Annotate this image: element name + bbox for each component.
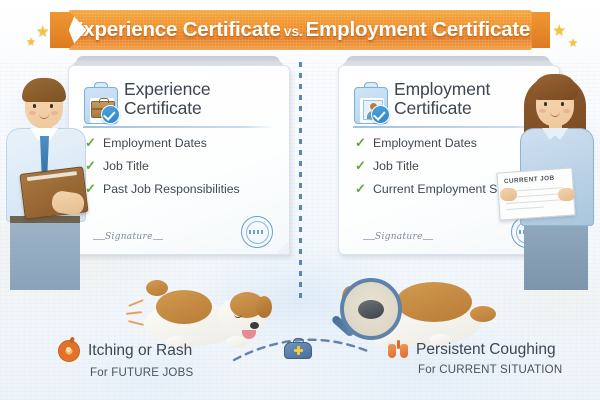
title-part-experience: Experience Certificate <box>70 18 281 41</box>
dog-ear <box>256 296 272 318</box>
woman-with-document-illustration: CURRENT JOB <box>512 62 600 290</box>
scratch-motion-line <box>128 320 144 326</box>
experience-certificate-card[interactable]: Experience Certificate ✓ Employment Date… <box>68 56 288 256</box>
list-item: ✓ Job Title <box>85 159 281 173</box>
card-title: Employment Certificate <box>394 80 490 118</box>
list-item-label: Job Title <box>373 159 419 173</box>
star-icon: ★ <box>553 21 566 39</box>
vet-bag-icon <box>284 338 310 358</box>
title-vs: vs. <box>281 23 306 39</box>
card-title-line2: Certificate <box>394 99 490 118</box>
ribbon-band: Experience Certificatevs.Employment Cert… <box>68 10 532 50</box>
hair <box>22 78 66 102</box>
signature-line: Signature <box>105 232 153 242</box>
card-title-line1: Experience <box>124 80 211 99</box>
eye <box>561 102 564 106</box>
medical-cross-icon <box>294 346 303 355</box>
document-line <box>506 206 544 210</box>
list-item: ✓ Employment Dates <box>85 136 281 150</box>
star-icon: ★ <box>26 35 36 48</box>
eye <box>33 104 36 108</box>
clipboard-id-photo-icon <box>353 82 387 122</box>
list-item-label: Job Title <box>103 159 149 173</box>
cheek <box>51 111 58 115</box>
card-title-line1: Employment <box>394 80 490 99</box>
bottom-label-title: Persistent Coughing <box>416 341 556 359</box>
signature-line: Signature <box>375 232 423 242</box>
bottom-label-title: Itching or Rash <box>88 342 192 360</box>
dog-back-patch <box>396 282 472 322</box>
check-icon: ✓ <box>355 136 366 150</box>
scratch-motion-line <box>128 299 144 307</box>
eye <box>50 104 53 108</box>
check-badge-icon <box>101 105 120 124</box>
cheek <box>29 111 36 115</box>
dog-back-patch <box>156 290 212 324</box>
hand <box>500 188 517 201</box>
mouth <box>550 112 560 117</box>
title-part-employment: Employment Certificate <box>306 18 531 41</box>
check-badge-icon <box>371 105 390 124</box>
lungs-icon <box>388 340 408 359</box>
title-ribbon: ★ ★ ★ ★ Experience Certificatevs.Employm… <box>50 8 550 54</box>
list-item-label: Employment Dates <box>103 136 207 150</box>
eye <box>544 102 547 106</box>
man-with-folder-illustration <box>2 66 88 290</box>
list-item: ✓ Past Job Responsibilities <box>85 182 281 196</box>
scratch-motion-line <box>126 311 142 315</box>
bottom-label-right: Persistent Coughing For CURRENT SITUATIO… <box>388 340 600 376</box>
feature-list: ✓ Employment Dates ✓ Job Title ✓ Past Jo… <box>85 136 281 205</box>
skirt <box>524 222 588 290</box>
bottom-label-subtitle: For FUTURE JOBS <box>90 367 278 379</box>
dog-nose <box>250 322 259 329</box>
check-icon: ✓ <box>355 159 366 173</box>
dog-tail <box>146 280 168 296</box>
trousers <box>10 218 80 290</box>
cheek <box>539 109 546 113</box>
infographic-canvas: ★ ★ ★ ★ Experience Certificatevs.Employm… <box>0 0 600 400</box>
list-item-label: Employment Dates <box>373 136 477 150</box>
page-title: Experience Certificatevs.Employment Cert… <box>70 18 530 42</box>
bottom-label-left: Itching or Rash For FUTURE JOBS <box>58 340 278 379</box>
document-line <box>506 199 564 204</box>
ribbon-left-tail <box>50 12 76 48</box>
star-icon: ★ <box>568 36 578 49</box>
bottom-label-subtitle: For CURRENT SITUATION <box>418 364 600 376</box>
rash-spot-icon <box>58 340 80 362</box>
list-item-label: Past Job Responsibilities <box>103 182 240 196</box>
title-underline <box>83 126 273 128</box>
document-label: CURRENT JOB <box>504 175 555 186</box>
card-title-line2: Certificate <box>124 99 211 118</box>
hair-top <box>532 74 578 100</box>
hand <box>558 188 575 201</box>
bottom-label-row: Persistent Coughing <box>388 340 600 359</box>
star-icon: ★ <box>36 22 49 40</box>
card-header: Experience Certificate <box>83 80 279 122</box>
clipboard-briefcase-icon <box>83 82 117 122</box>
card-title: Experience Certificate <box>124 80 211 118</box>
bottom-label-row: Itching or Rash <box>58 340 278 362</box>
magnified-nose <box>358 300 384 319</box>
check-icon: ✓ <box>355 182 366 196</box>
dog-tail <box>470 306 496 322</box>
vertical-dashed-divider <box>299 62 302 302</box>
cheek <box>563 109 570 113</box>
official-seal-icon <box>241 216 273 248</box>
certificate-sheet: Experience Certificate ✓ Employment Date… <box>68 65 290 255</box>
mouth <box>39 114 49 119</box>
